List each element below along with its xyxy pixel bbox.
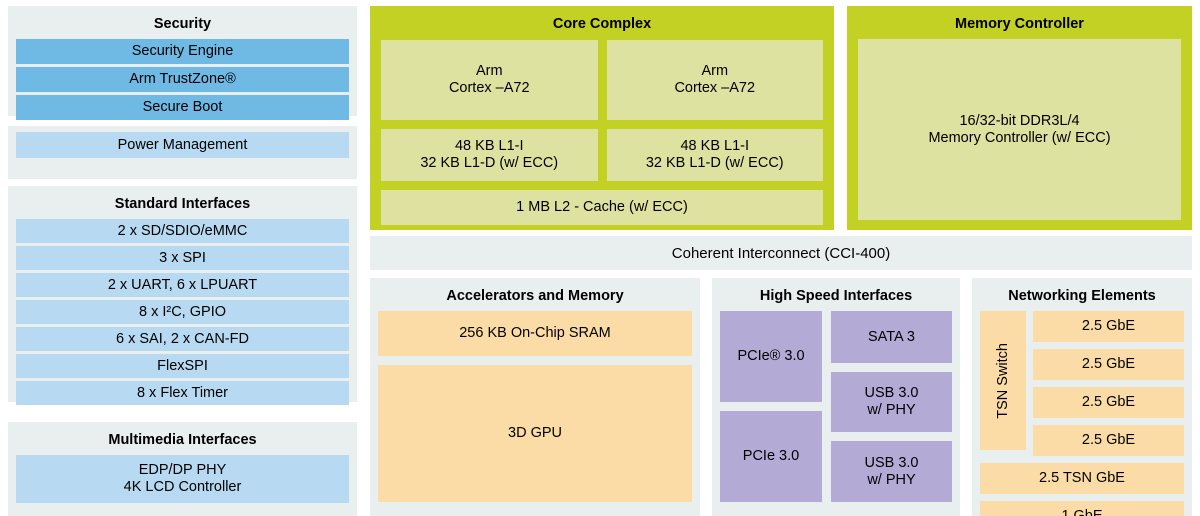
high-speed-interfaces-panel: High Speed Interfaces PCIe® 3.0 PCIe 3.0… bbox=[712, 278, 960, 516]
networking-port-list: 2.5 GbE 2.5 GbE 2.5 GbE 2.5 GbE bbox=[1033, 311, 1184, 456]
core-complex-l1-row: 48 KB L1-I 32 KB L1-D (w/ ECC) 48 KB L1-… bbox=[381, 129, 823, 181]
multimedia-block-display[interactable]: EDP/DP PHY 4K LCD Controller bbox=[16, 455, 349, 503]
core-cpu-0-line2: Cortex –A72 bbox=[449, 80, 530, 97]
standard-interfaces-block-list: 2 x SD/SDIO/eMMC 3 x SPI 2 x UART, 6 x L… bbox=[16, 219, 349, 405]
networking-switch-row: TSN Switch 2.5 GbE 2.5 GbE 2.5 GbE 2.5 G… bbox=[980, 311, 1184, 456]
power-block-power-management[interactable]: Power Management bbox=[16, 132, 349, 158]
power-block-list: Power Management bbox=[16, 132, 349, 158]
hsi-block-pcie-1[interactable]: PCIe 3.0 bbox=[720, 411, 822, 502]
standard-block-flexspi[interactable]: FlexSPI bbox=[16, 354, 349, 378]
networking-block-tsn-switch[interactable]: TSN Switch bbox=[980, 311, 1026, 450]
networking-extra-port-1gbe[interactable]: 1 GbE bbox=[980, 501, 1184, 516]
standard-block-spi[interactable]: 3 x SPI bbox=[16, 246, 349, 270]
power-management-panel: Power Management bbox=[8, 126, 357, 179]
multimedia-block-line1: EDP/DP PHY bbox=[124, 462, 242, 479]
networking-port-2[interactable]: 2.5 GbE bbox=[1033, 387, 1184, 418]
accelerators-block-gpu[interactable]: 3D GPU bbox=[378, 365, 692, 502]
security-panel: Security Security Engine Arm TrustZone® … bbox=[8, 6, 357, 116]
core-l1-cache-1[interactable]: 48 KB L1-I 32 KB L1-D (w/ ECC) bbox=[607, 129, 824, 181]
high-speed-right-column: SATA 3 USB 3.0 w/ PHY USB 3.0 w/ PHY bbox=[831, 311, 952, 502]
multimedia-block-line2: 4K LCD Controller bbox=[124, 479, 242, 496]
memory-controller-block[interactable]: 16/32-bit DDR3L/4 Memory Controller (w/ … bbox=[858, 39, 1181, 220]
accelerators-and-memory-panel: Accelerators and Memory 256 KB On-Chip S… bbox=[370, 278, 700, 516]
security-block-arm-trustzone[interactable]: Arm TrustZone® bbox=[16, 67, 349, 92]
coherent-interconnect-bar: Coherent Interconnect (CCI-400) bbox=[370, 236, 1192, 270]
standard-block-sai-canfd[interactable]: 6 x SAI, 2 x CAN-FD bbox=[16, 327, 349, 351]
networking-extra-port-list: 2.5 TSN GbE 1 GbE bbox=[980, 463, 1184, 516]
networking-elements-title: Networking Elements bbox=[980, 284, 1184, 311]
hsi-block-usb30-1[interactable]: USB 3.0 w/ PHY bbox=[831, 441, 952, 502]
networking-port-3[interactable]: 2.5 GbE bbox=[1033, 425, 1184, 456]
core-cpu-0-line1: Arm bbox=[449, 63, 530, 80]
hsi-block-usb30-0[interactable]: USB 3.0 w/ PHY bbox=[831, 372, 952, 432]
core-l1-cache-1-line2: 32 KB L1-D (w/ ECC) bbox=[646, 155, 784, 172]
hsi-block-sata3[interactable]: SATA 3 bbox=[831, 311, 952, 363]
hsi-block-sata3-line1: SATA 3 bbox=[868, 329, 915, 346]
standard-block-flex-timer[interactable]: 8 x Flex Timer bbox=[16, 381, 349, 405]
networking-elements-panel: Networking Elements TSN Switch 2.5 GbE 2… bbox=[972, 278, 1192, 516]
security-block-secure-boot[interactable]: Secure Boot bbox=[16, 95, 349, 120]
memory-controller-line1: 16/32-bit DDR3L/4 bbox=[928, 113, 1110, 130]
multimedia-interfaces-panel: Multimedia Interfaces EDP/DP PHY 4K LCD … bbox=[8, 422, 357, 516]
core-l1-cache-0-line1: 48 KB L1-I bbox=[420, 138, 558, 155]
accelerators-title: Accelerators and Memory bbox=[378, 284, 692, 311]
high-speed-interfaces-grid: PCIe® 3.0 PCIe 3.0 SATA 3 USB 3.0 w/ PHY bbox=[720, 311, 952, 502]
core-complex-title: Core Complex bbox=[381, 12, 823, 40]
core-complex-panel: Core Complex Arm Cortex –A72 Arm Cortex … bbox=[370, 6, 834, 230]
memory-controller-title: Memory Controller bbox=[858, 12, 1181, 39]
standard-block-sd-sdio-emmc[interactable]: 2 x SD/SDIO/eMMC bbox=[16, 219, 349, 243]
standard-interfaces-title: Standard Interfaces bbox=[16, 192, 349, 219]
core-cpu-1[interactable]: Arm Cortex –A72 bbox=[607, 40, 824, 120]
security-block-security-engine[interactable]: Security Engine bbox=[16, 39, 349, 64]
core-l2-cache[interactable]: 1 MB L2 - Cache (w/ ECC) bbox=[381, 190, 823, 225]
security-title: Security bbox=[16, 12, 349, 39]
multimedia-interfaces-title: Multimedia Interfaces bbox=[16, 428, 349, 455]
core-l1-cache-1-line1: 48 KB L1-I bbox=[646, 138, 784, 155]
memory-controller-panel: Memory Controller 16/32-bit DDR3L/4 Memo… bbox=[847, 6, 1192, 230]
hsi-block-pcie-0[interactable]: PCIe® 3.0 bbox=[720, 311, 822, 402]
networking-port-0[interactable]: 2.5 GbE bbox=[1033, 311, 1184, 342]
core-l1-cache-0-line2: 32 KB L1-D (w/ ECC) bbox=[420, 155, 558, 172]
core-cpu-1-line2: Cortex –A72 bbox=[674, 80, 755, 97]
memory-controller-line2: Memory Controller (w/ ECC) bbox=[928, 130, 1110, 147]
hsi-block-usb30-1-line2: w/ PHY bbox=[865, 472, 919, 489]
accelerators-block-sram[interactable]: 256 KB On-Chip SRAM bbox=[378, 311, 692, 356]
networking-tsn-switch-label: TSN Switch bbox=[995, 343, 1012, 419]
hsi-block-usb30-0-line1: USB 3.0 bbox=[865, 385, 919, 402]
core-complex-cpu-row: Arm Cortex –A72 Arm Cortex –A72 bbox=[381, 40, 823, 120]
hsi-block-usb30-0-line2: w/ PHY bbox=[865, 402, 919, 419]
high-speed-left-column: PCIe® 3.0 PCIe 3.0 bbox=[720, 311, 822, 502]
standard-block-uart-lpuart[interactable]: 2 x UART, 6 x LPUART bbox=[16, 273, 349, 297]
core-cpu-1-line1: Arm bbox=[674, 63, 755, 80]
hsi-block-usb30-1-line1: USB 3.0 bbox=[865, 455, 919, 472]
core-cpu-0[interactable]: Arm Cortex –A72 bbox=[381, 40, 598, 120]
security-block-list: Security Engine Arm TrustZone® Secure Bo… bbox=[16, 39, 349, 120]
soc-block-diagram: Security Security Engine Arm TrustZone® … bbox=[0, 0, 1200, 516]
standard-block-i2c-gpio[interactable]: 8 x I²C, GPIO bbox=[16, 300, 349, 324]
core-l1-cache-0[interactable]: 48 KB L1-I 32 KB L1-D (w/ ECC) bbox=[381, 129, 598, 181]
multimedia-block-list: EDP/DP PHY 4K LCD Controller bbox=[16, 455, 349, 503]
standard-interfaces-panel: Standard Interfaces 2 x SD/SDIO/eMMC 3 x… bbox=[8, 186, 357, 402]
networking-port-1[interactable]: 2.5 GbE bbox=[1033, 349, 1184, 380]
networking-extra-port-tsn-gbe[interactable]: 2.5 TSN GbE bbox=[980, 463, 1184, 494]
high-speed-interfaces-title: High Speed Interfaces bbox=[720, 284, 952, 311]
